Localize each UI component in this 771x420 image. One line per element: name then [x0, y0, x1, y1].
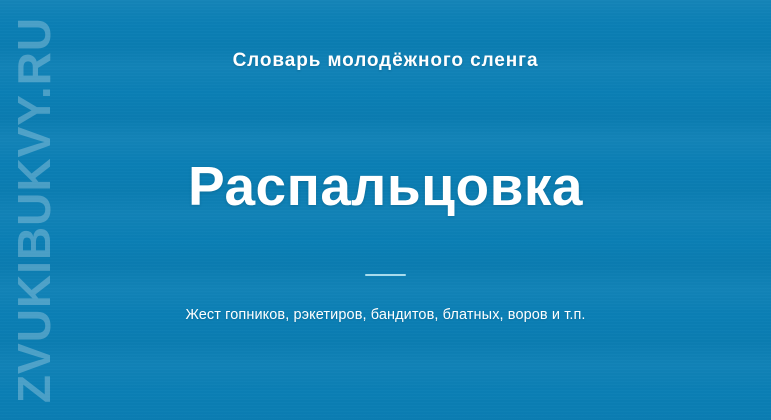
- entry-definition: Жест гопников, рэкетиров, бандитов, блат…: [0, 307, 771, 323]
- site-title: Словарь молодёжного сленга: [0, 50, 771, 72]
- divider-rule: [365, 274, 406, 276]
- entry-word: Распальцовка: [0, 158, 771, 216]
- card-content: Словарь молодёжного сленга Распальцовка …: [0, 0, 771, 420]
- divider-container: [0, 274, 771, 276]
- slang-dictionary-card: ZVUKIBUKVY.RU Словарь молодёжного сленга…: [0, 0, 771, 420]
